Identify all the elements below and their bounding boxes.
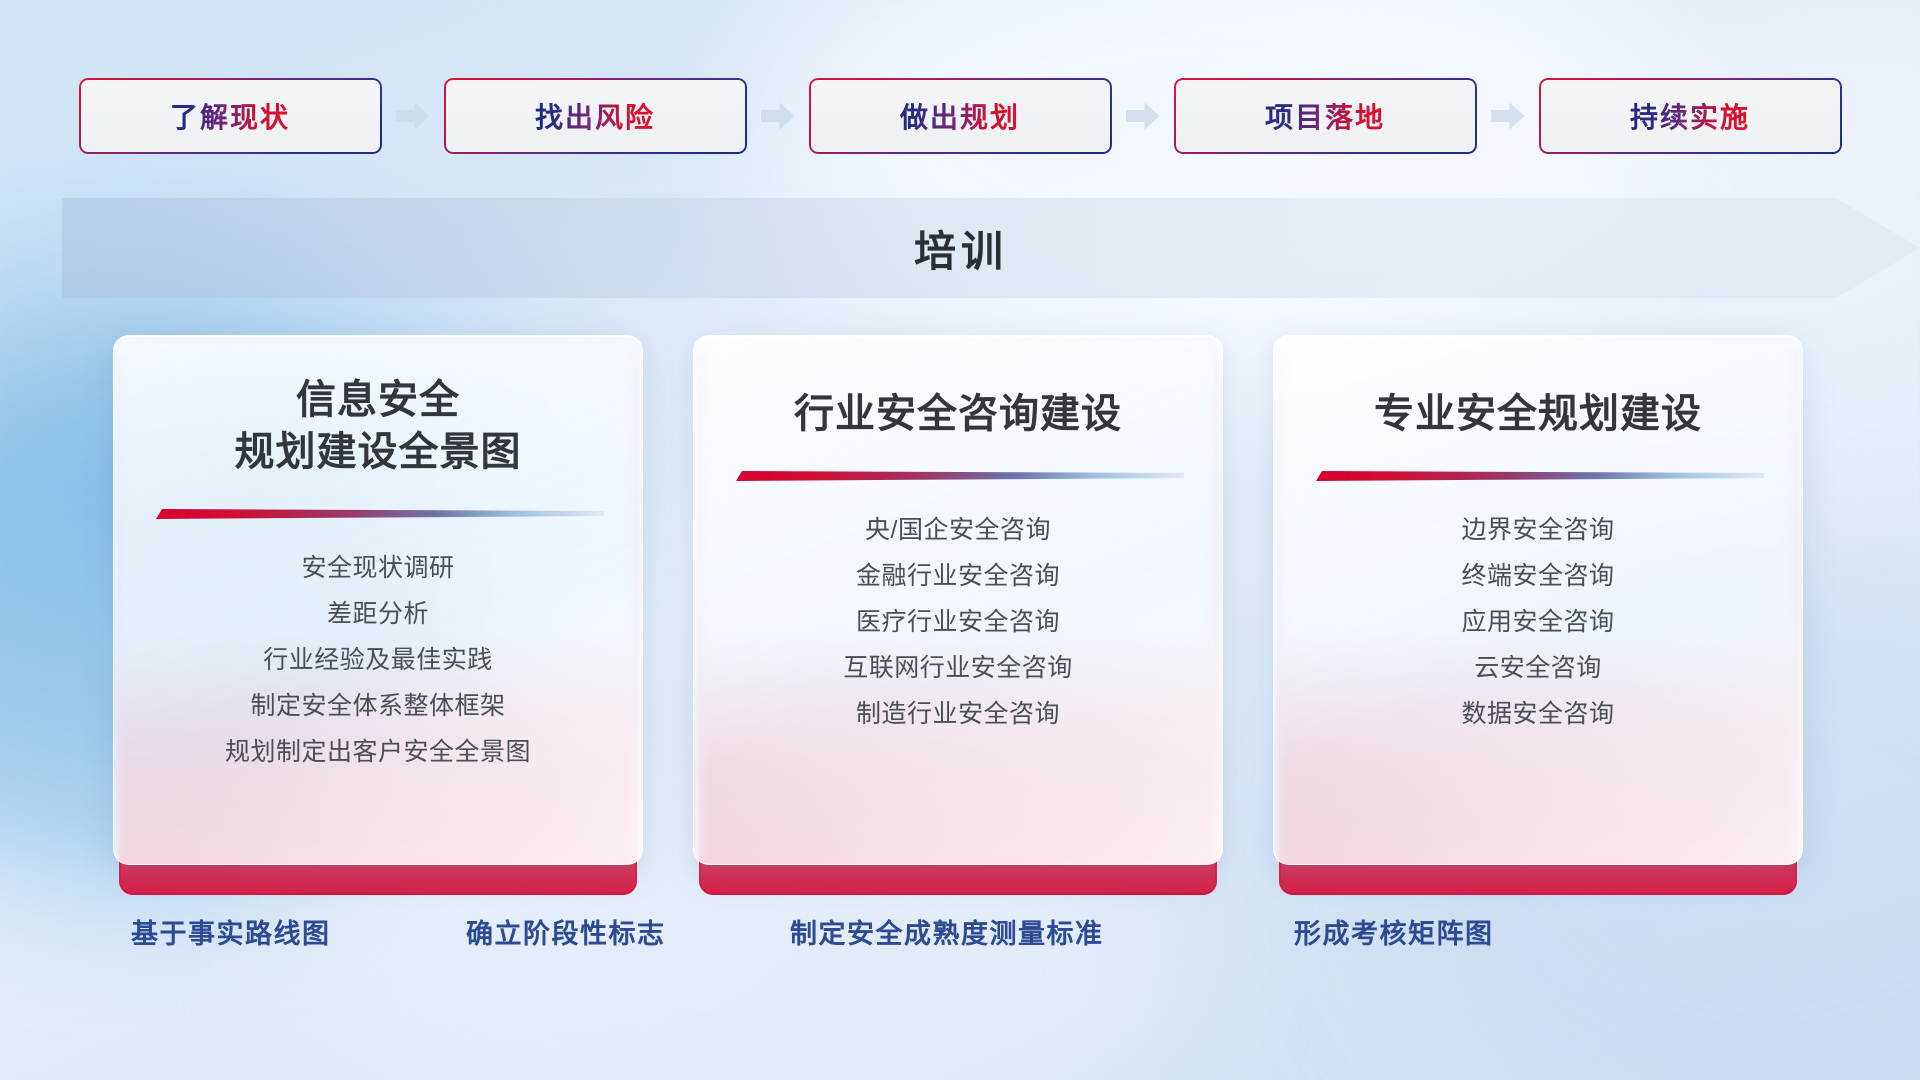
- card-divider: [1312, 470, 1764, 484]
- list-item: 互联网行业安全咨询: [843, 646, 1073, 692]
- list-item: 安全现状调研: [301, 546, 454, 592]
- list-item: 云安全咨询: [1474, 646, 1602, 692]
- bottom-label-2: 确立阶段性标志: [466, 912, 666, 951]
- process-step-1-label: 了解现状: [170, 96, 290, 136]
- card-row: 信息安全 规划建设全景图: [0, 335, 1920, 895]
- list-item: 金融行业安全咨询: [856, 554, 1060, 600]
- process-step-1[interactable]: 了解现状: [79, 78, 382, 154]
- card-title: 信息安全 规划建设全景图: [235, 374, 522, 478]
- list-item: 行业经验及最佳实践: [263, 638, 493, 684]
- bottom-label-3: 制定安全成熟度测量标准: [790, 912, 1104, 951]
- card-information-security-blueprint[interactable]: 信息安全 规划建设全景图: [113, 335, 643, 895]
- card-industry-security-consulting[interactable]: 行业安全咨询建设: [693, 335, 1223, 895]
- training-banner: 培训: [62, 198, 1920, 298]
- bottom-label-row: 基于事实路线图 确立阶段性标志 制定安全成熟度测量标准 形成考核矩阵图: [0, 912, 1920, 962]
- process-step-5[interactable]: 持续实施: [1539, 78, 1842, 154]
- card-title: 专业安全规划建设: [1374, 388, 1702, 440]
- card-item-list: 安全现状调研 差距分析 行业经验及最佳实践 制定安全体系整体框架 规划制定出客户…: [114, 546, 642, 776]
- card-divider: [732, 470, 1184, 484]
- arrow-right-icon: [1126, 103, 1160, 130]
- training-banner-label: 培训: [914, 218, 1008, 279]
- list-item: 央/国企安全咨询: [865, 508, 1051, 554]
- card-title: 行业安全咨询建设: [794, 388, 1122, 440]
- card-professional-security-planning[interactable]: 专业安全规划建设: [1273, 335, 1803, 895]
- card-item-list: 边界安全咨询 终端安全咨询 应用安全咨询 云安全咨询 数据安全咨询: [1274, 508, 1802, 738]
- arrow-right-icon: [1491, 103, 1525, 130]
- bottom-label-1: 基于事实路线图: [131, 912, 331, 951]
- process-step-2[interactable]: 找出风险: [444, 78, 747, 154]
- process-step-4-label: 项目落地: [1265, 96, 1385, 136]
- process-step-4[interactable]: 项目落地: [1174, 78, 1477, 154]
- arrow-right-icon: [761, 103, 795, 130]
- list-item: 制造行业安全咨询: [856, 692, 1060, 738]
- list-item: 数据安全咨询: [1461, 692, 1614, 738]
- process-step-2-label: 找出风险: [535, 96, 655, 136]
- arrow-right-icon: [396, 103, 430, 130]
- process-step-5-label: 持续实施: [1630, 96, 1750, 136]
- card-item-list: 央/国企安全咨询 金融行业安全咨询 医疗行业安全咨询 互联网行业安全咨询 制造行…: [694, 508, 1222, 738]
- list-item: 应用安全咨询: [1461, 600, 1614, 646]
- process-step-3[interactable]: 做出规划: [809, 78, 1112, 154]
- process-step-3-label: 做出规划: [900, 96, 1020, 136]
- process-step-row: 了解现状 找出风险 做出规划 项目落地 持续实施: [0, 78, 1920, 154]
- card-divider: [152, 508, 604, 522]
- list-item: 医疗行业安全咨询: [856, 600, 1060, 646]
- list-item: 边界安全咨询: [1461, 508, 1614, 554]
- list-item: 终端安全咨询: [1461, 554, 1614, 600]
- list-item: 制定安全体系整体框架: [250, 684, 505, 730]
- bottom-label-4: 形成考核矩阵图: [1294, 912, 1494, 951]
- list-item: 差距分析: [327, 592, 429, 638]
- list-item: 规划制定出客户安全全景图: [225, 730, 531, 776]
